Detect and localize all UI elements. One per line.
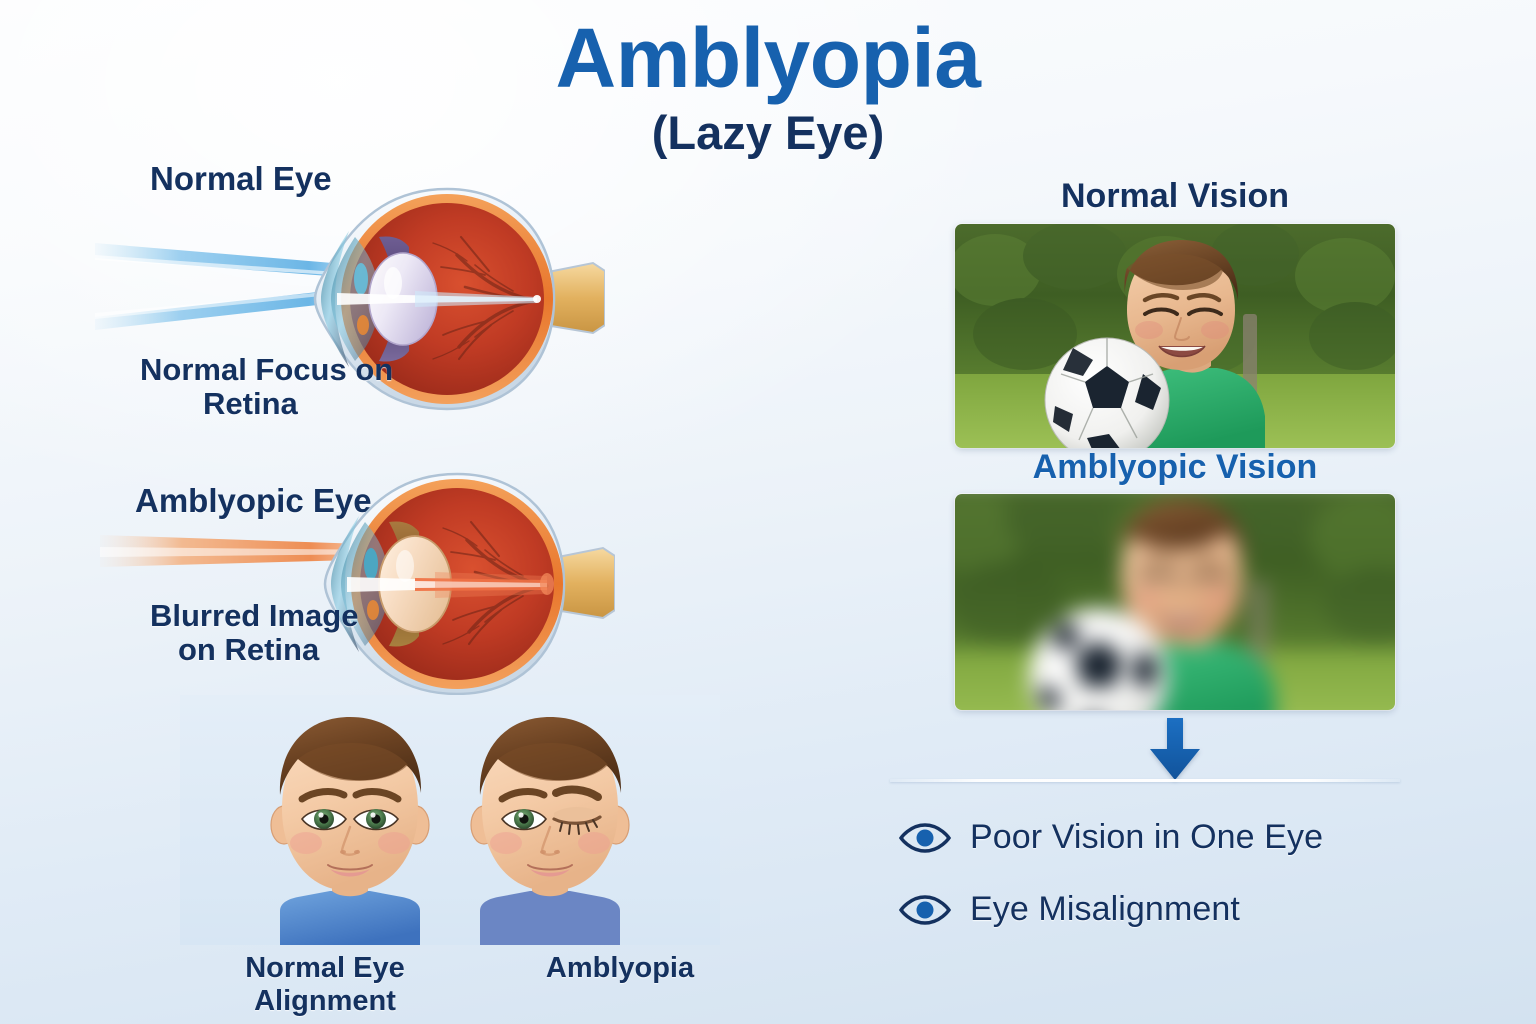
infographic-canvas: Amblyopia (Lazy Eye) Normal Eye	[0, 0, 1536, 1024]
children-comparison-illustration	[180, 695, 720, 945]
eye-icon	[898, 822, 952, 854]
symptom-label: Eye Misalignment	[970, 890, 1240, 929]
amblyopic-eye-anatomy-diagram	[285, 460, 615, 720]
normal-vision-photo	[955, 224, 1395, 448]
title-block: Amblyopia (Lazy Eye)	[0, 16, 1536, 157]
symptom-item-poor-vision: Poor Vision in One Eye	[898, 818, 1323, 857]
blurred-image-caption-line1: Blurred Image	[150, 598, 358, 634]
normal-focus-caption-line1: Normal Focus on	[140, 352, 393, 388]
kid-caption-amblyopia: Amblyopia	[490, 952, 750, 985]
normal-vision-label: Normal Vision	[955, 177, 1395, 216]
kid-normal-alignment	[271, 717, 429, 945]
amblyopic-vision-photo	[955, 494, 1395, 710]
eye-icon	[898, 894, 952, 926]
normal-eye-anatomy-diagram	[275, 175, 605, 435]
soccer-scene-blurred	[955, 494, 1395, 710]
soccer-scene-sharp	[955, 224, 1395, 448]
section-divider	[890, 779, 1400, 782]
page-subtitle: (Lazy Eye)	[0, 108, 1536, 157]
kid-caption-normal-alignment: Normal Eye Alignment	[175, 952, 475, 1018]
blurred-image-caption-line2: on Retina	[178, 632, 319, 668]
page-title: Amblyopia	[0, 16, 1536, 102]
kid-amblyopia	[471, 717, 629, 945]
down-arrow-icon	[1146, 718, 1204, 780]
symptom-label: Poor Vision in One Eye	[970, 818, 1323, 857]
symptom-item-eye-misalignment: Eye Misalignment	[898, 890, 1240, 929]
normal-focus-caption-line2: Retina	[203, 386, 298, 422]
amblyopic-vision-label: Amblyopic Vision	[955, 448, 1395, 487]
